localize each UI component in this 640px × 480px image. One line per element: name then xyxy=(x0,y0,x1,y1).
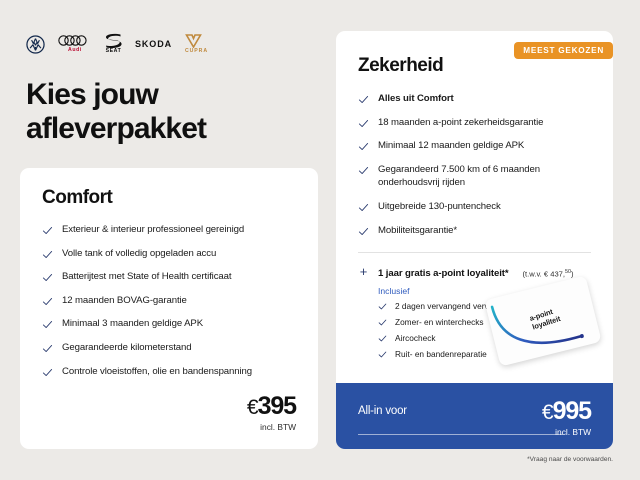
footnote: *Vraag naar de voorwaarden. xyxy=(527,456,613,463)
status-badge: MEEST GEKOZEN xyxy=(514,42,613,59)
list-item-label: Gegarandeerd 7.500 km of 6 maanden onder… xyxy=(378,163,591,190)
list-item: Uitgebreide 130-puntencheck xyxy=(358,200,591,214)
promo-page: Audi SEAT SKODA CUPRA Kies jouw afleverp… xyxy=(0,0,640,480)
loyalty-value-prefix: (t.w.v. € 437, xyxy=(523,269,566,278)
comfort-feature-list: Exterieur & interieur professioneel gere… xyxy=(42,223,296,378)
check-icon xyxy=(358,94,369,105)
cupra-wordmark: CUPRA xyxy=(185,49,208,54)
seat-logo-icon: SEAT xyxy=(105,33,122,54)
included-section: Inclusief 2 dagen vervangend vervoer Zom… xyxy=(378,286,591,359)
package-card-zekerheid[interactable]: MEEST GEKOZEN Zekerheid Alles uit Comfor… xyxy=(336,31,613,449)
loyalty-plus-row: + 1 jaar gratis a-point loyaliteit* (t.w… xyxy=(358,265,591,279)
check-icon xyxy=(42,225,53,236)
loyalty-label: 1 jaar gratis a-point loyaliteit* xyxy=(378,268,509,279)
list-item: 18 maanden a-point zekerheidsgarantie xyxy=(358,116,591,130)
zekerheid-body: MEEST GEKOZEN Zekerheid Alles uit Comfor… xyxy=(336,31,613,359)
list-item: Batterijtest met State of Health certifi… xyxy=(42,270,296,284)
footer-row: All-in voor €995 incl. BTW xyxy=(358,399,591,437)
check-icon xyxy=(358,226,369,237)
check-icon xyxy=(42,296,53,307)
section-divider xyxy=(358,252,591,253)
list-item-label: Zomer- en winterchecks xyxy=(395,317,484,328)
comfort-title: Comfort xyxy=(42,187,296,209)
brand-logo-bar: Audi SEAT SKODA CUPRA xyxy=(26,31,208,57)
comfort-price-block: €395 incl. BTW xyxy=(247,394,296,432)
list-item-label: Mobiliteitsgarantie* xyxy=(378,224,457,238)
list-item: Volle tank of volledig opgeladen accu xyxy=(42,247,296,261)
list-item: Alles uit Comfort xyxy=(358,92,591,106)
seat-wordmark: SEAT xyxy=(105,49,122,54)
check-icon xyxy=(378,302,387,311)
list-item: Exterieur & interieur professioneel gere… xyxy=(42,223,296,237)
list-item: Controle vloeistoffen, olie en bandenspa… xyxy=(42,365,296,379)
list-item: Minimaal 3 maanden geldige APK xyxy=(42,317,296,331)
check-icon xyxy=(42,367,53,378)
check-icon xyxy=(358,141,369,152)
comfort-price-note: incl. BTW xyxy=(247,422,296,432)
plus-icon: + xyxy=(358,265,369,278)
audi-wordmark: Audi xyxy=(58,48,92,53)
all-in-label: All-in voor xyxy=(358,399,407,417)
loyalty-value-suffix: ) xyxy=(571,269,574,278)
price-amount: 995 xyxy=(553,397,591,425)
zekerheid-price-note: incl. BTW xyxy=(542,427,591,437)
page-title: Kies jouw afleverpakket xyxy=(26,78,316,146)
check-icon xyxy=(378,318,387,327)
list-item: Mobiliteitsgarantie* xyxy=(358,224,591,238)
list-item-label: Aircocheck xyxy=(395,333,436,344)
list-item-label: Minimaal 3 maanden geldige APK xyxy=(62,317,203,331)
left-column: Audi SEAT SKODA CUPRA Kies jouw afleverp… xyxy=(0,0,330,480)
list-item-label: Exterieur & interieur professioneel gere… xyxy=(62,223,244,237)
list-item: 12 maanden BOVAG-garantie xyxy=(42,294,296,308)
check-icon xyxy=(42,319,53,330)
package-card-comfort[interactable]: Comfort Exterieur & interieur profession… xyxy=(20,168,318,449)
loyalty-value-note: (t.w.v. € 437,50) xyxy=(523,269,574,279)
list-item: Gegarandeerde kilometerstand xyxy=(42,341,296,355)
check-icon xyxy=(42,343,53,354)
check-icon xyxy=(378,334,387,343)
check-icon xyxy=(358,165,369,176)
zekerheid-price: €995 xyxy=(542,399,591,424)
zekerheid-price-block: €995 incl. BTW xyxy=(542,399,591,437)
volkswagen-logo-icon xyxy=(26,35,45,54)
list-item-label: 18 maanden a-point zekerheidsgarantie xyxy=(378,116,543,130)
check-icon xyxy=(42,272,53,283)
list-item-label: Ruit- en bandenreparatie xyxy=(395,349,487,360)
currency-symbol: € xyxy=(247,396,258,419)
check-icon xyxy=(358,118,369,129)
price-amount: 395 xyxy=(258,392,296,420)
skoda-wordmark: SKODA xyxy=(135,39,172,49)
list-item-label: Gegarandeerde kilometerstand xyxy=(62,341,191,355)
zekerheid-feature-list: Alles uit Comfort 18 maanden a-point zek… xyxy=(358,92,591,237)
check-icon xyxy=(42,249,53,260)
list-item: Gegarandeerd 7.500 km of 6 maanden onder… xyxy=(358,163,591,190)
list-item-label: Batterijtest met State of Health certifi… xyxy=(62,270,231,284)
list-item-label: Volle tank of volledig opgeladen accu xyxy=(62,247,216,261)
list-item-label: Uitgebreide 130-puntencheck xyxy=(378,200,501,214)
audi-logo-icon: Audi xyxy=(58,34,92,53)
comfort-price: €395 xyxy=(247,394,296,419)
cupra-logo-icon: CUPRA xyxy=(185,34,208,54)
footer-rule xyxy=(358,434,563,435)
list-item: Minimaal 12 maanden geldige APK xyxy=(358,139,591,153)
currency-symbol: € xyxy=(542,401,553,424)
list-item-label: Controle vloeistoffen, olie en bandenspa… xyxy=(62,365,252,379)
skoda-logo-icon: SKODA xyxy=(135,39,172,49)
list-item-label: 12 maanden BOVAG-garantie xyxy=(62,294,187,308)
check-icon xyxy=(378,350,387,359)
list-item-label: Minimaal 12 maanden geldige APK xyxy=(378,139,524,153)
list-item-label: Alles uit Comfort xyxy=(378,92,454,106)
zekerheid-price-footer: All-in voor €995 incl. BTW xyxy=(336,383,613,449)
check-icon xyxy=(358,202,369,213)
